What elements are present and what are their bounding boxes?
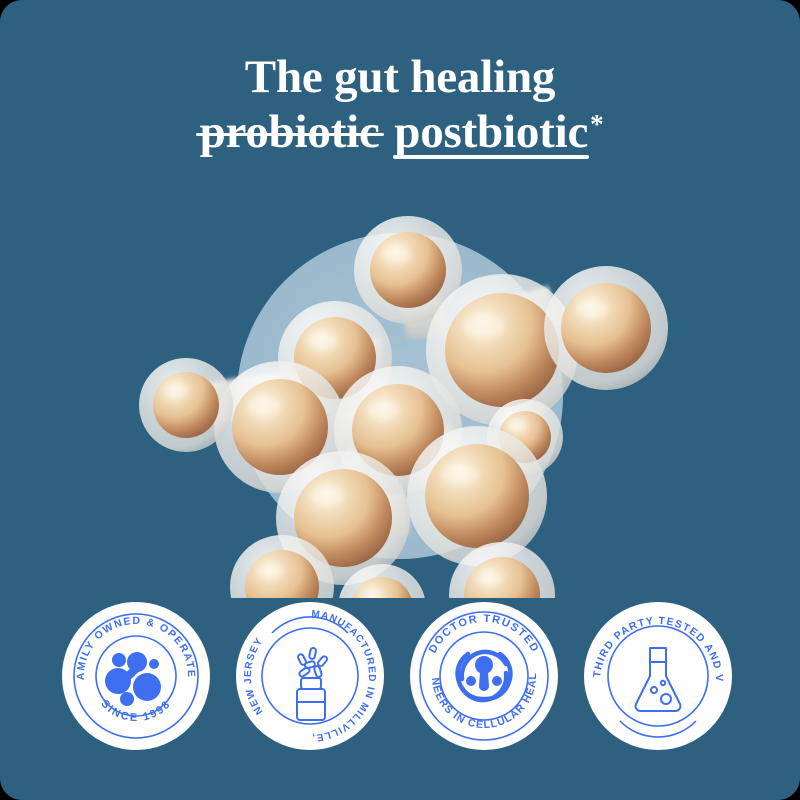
product-banner: The gut healing probiotic postbiotic* bbox=[0, 0, 800, 800]
page-title: The gut healing probiotic postbiotic* bbox=[0, 52, 800, 158]
badge-third-party-svg: ALWAYS THIRD PARTY TESTED AND VERIFIED bbox=[584, 602, 732, 750]
sphere-far-left bbox=[139, 358, 233, 452]
headline-line-2: probiotic postbiotic* bbox=[0, 107, 800, 158]
trust-badge-row: FAMILY OWNED & OPERATED SINCE 1998 bbox=[62, 601, 752, 751]
sphere-lower-right-large bbox=[407, 426, 547, 566]
badge-family-owned-svg: FAMILY OWNED & OPERATED SINCE 1998 bbox=[62, 602, 210, 750]
struck-word-probiotic: probiotic bbox=[198, 107, 382, 158]
molecule-cluster-svg bbox=[0, 178, 800, 598]
footnote-asterisk: * bbox=[590, 109, 603, 139]
badge-manufactured-millville[interactable]: MANUFACTURED IN MILLVILLE, NEW JERSEY bbox=[236, 602, 384, 750]
molecule-spheres bbox=[139, 216, 668, 598]
badge-doctor-trusted[interactable]: DOCTOR TRUSTED PIONEERS IN CELLULAR HEAL… bbox=[410, 602, 558, 750]
badge-face bbox=[236, 602, 384, 750]
emphasized-word-postbiotic: postbiotic bbox=[393, 107, 589, 158]
molecule-artwork bbox=[0, 178, 800, 598]
badge-doctor-trusted-svg: DOCTOR TRUSTED PIONEERS IN CELLULAR HEAL… bbox=[410, 602, 558, 750]
headline-line-1: The gut healing bbox=[0, 52, 800, 103]
badge-family-owned[interactable]: FAMILY OWNED & OPERATED SINCE 1998 bbox=[62, 602, 210, 750]
sphere-right bbox=[544, 266, 668, 390]
badge-manufactured-svg: MANUFACTURED IN MILLVILLE, NEW JERSEY bbox=[236, 602, 384, 750]
badge-third-party-tested[interactable]: ALWAYS THIRD PARTY TESTED AND VERIFIED bbox=[584, 602, 732, 750]
